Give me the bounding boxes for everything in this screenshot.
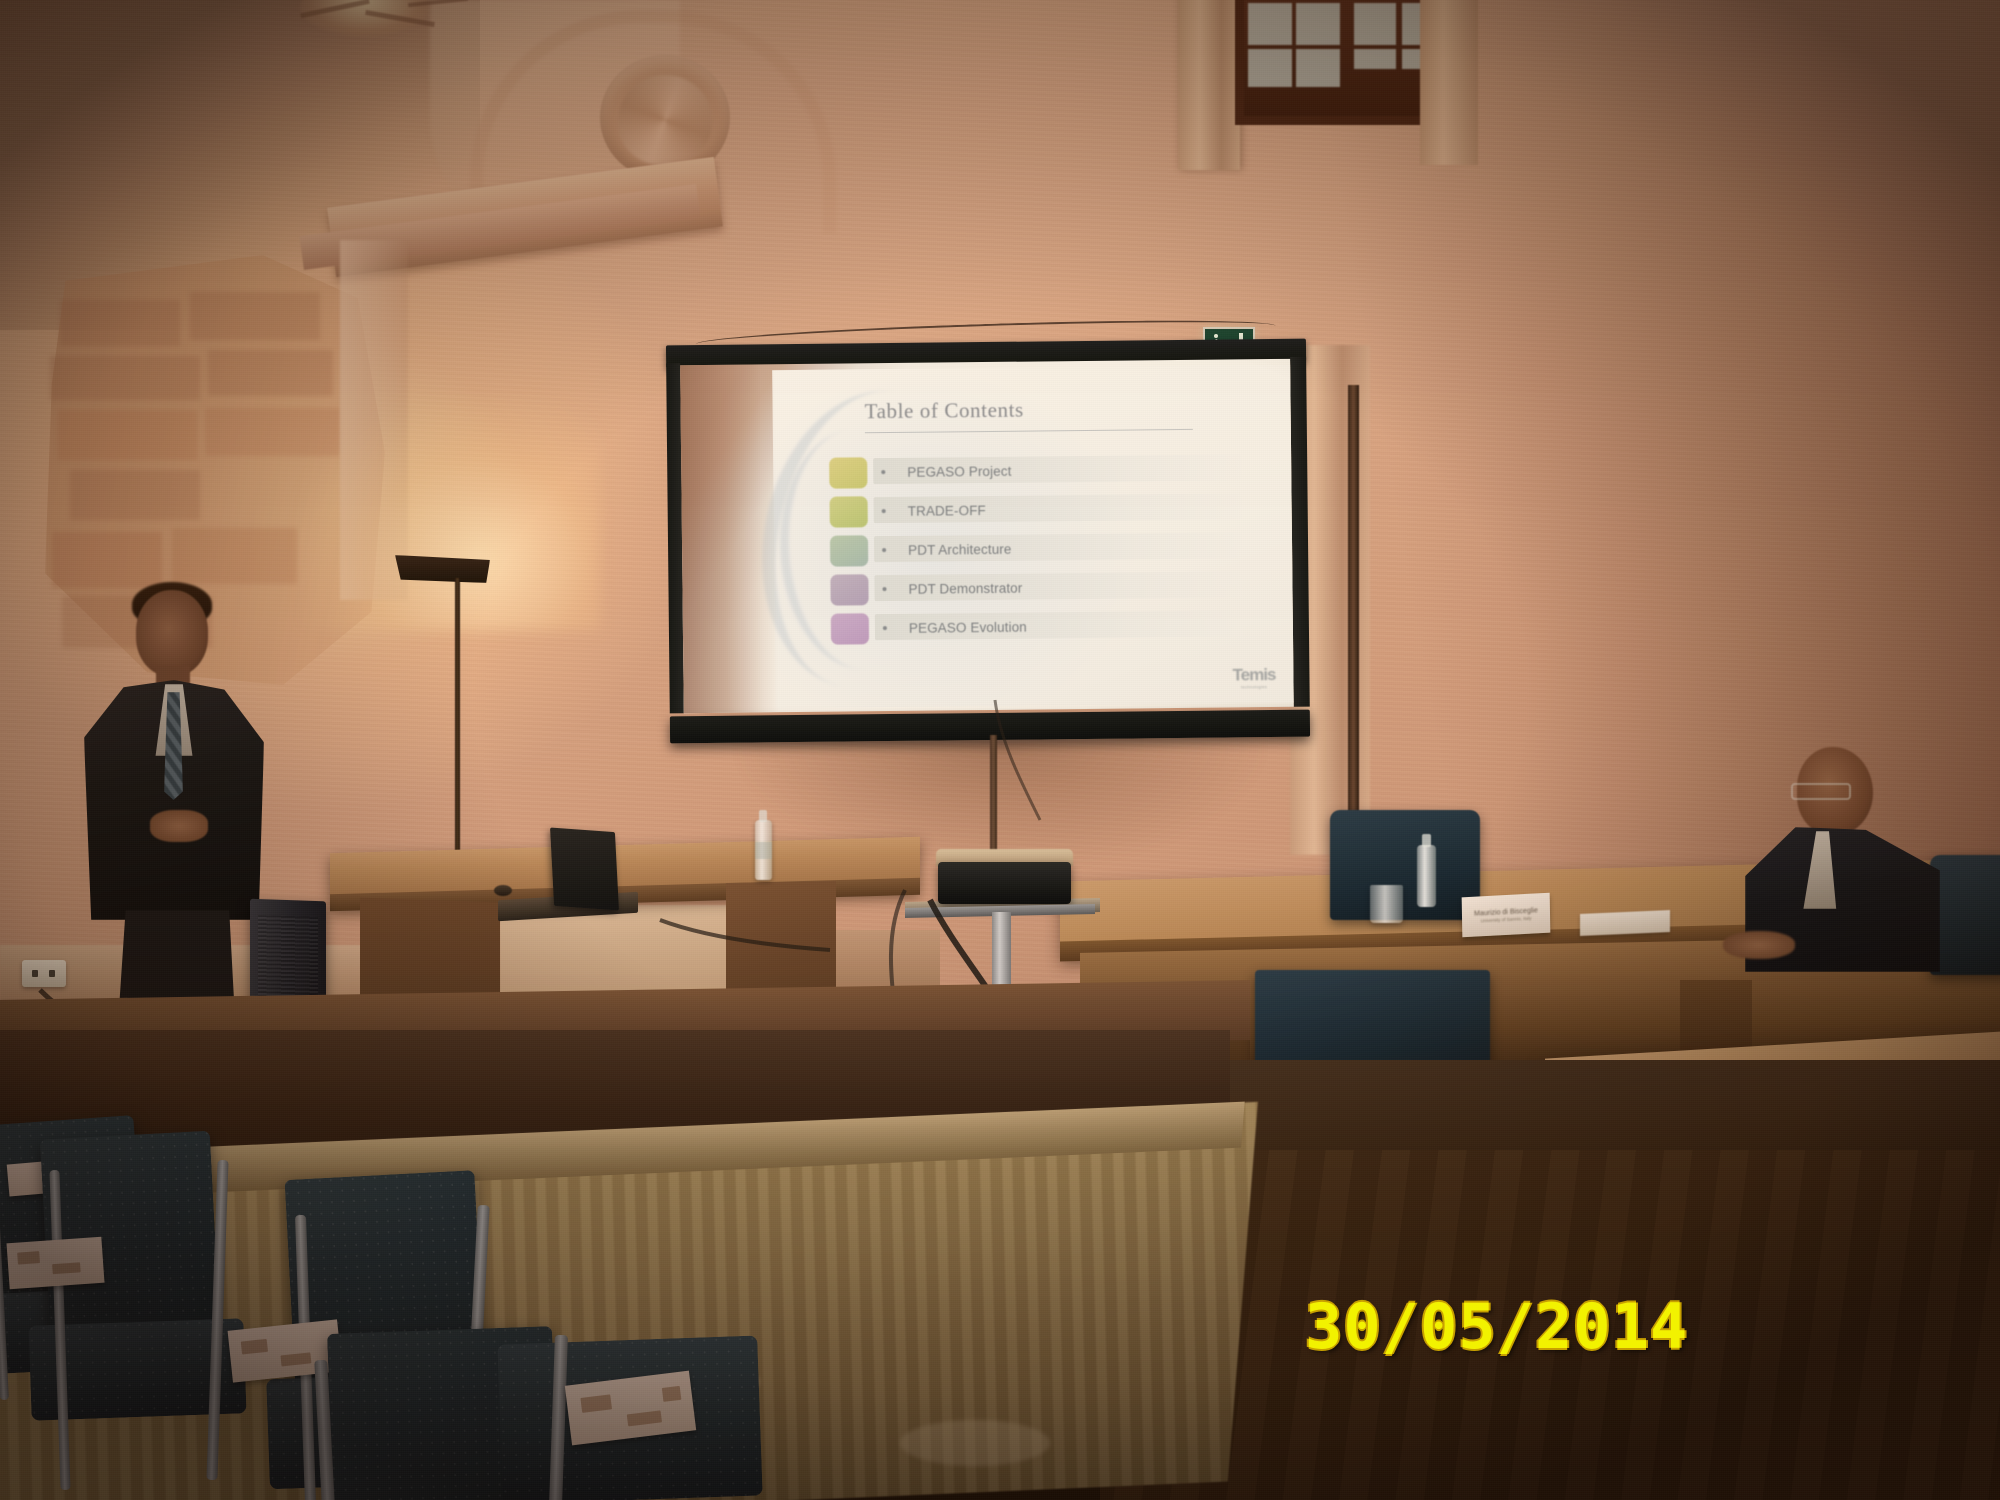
toc-color-chip	[831, 613, 869, 644]
toc-color-chip	[830, 535, 868, 566]
toc-item-label: TRADE-OFF	[908, 503, 986, 519]
slide-logo-subtext: technologies	[1233, 684, 1276, 689]
projected-slide: Table of Contents PEGASO Project TRADE-O…	[772, 365, 1294, 708]
flyer-image	[52, 1262, 81, 1274]
window-pane	[1248, 3, 1292, 45]
nameplate: Maurizio di Bisceglie University of Sann…	[1462, 893, 1551, 938]
papers-on-desk[interactable]	[1580, 910, 1670, 936]
flyer-image	[662, 1386, 682, 1402]
bullet-icon	[882, 548, 886, 552]
slide-logo-text: Temis	[1232, 665, 1275, 684]
bullet-icon	[882, 587, 886, 591]
brick	[190, 292, 320, 340]
presenter-head	[136, 590, 208, 676]
flyer[interactable]	[7, 1237, 105, 1290]
glasses-icon	[1791, 783, 1851, 800]
projector-body[interactable]	[938, 862, 1071, 904]
toc-color-chip	[829, 457, 867, 488]
water-bottle[interactable]	[1417, 845, 1436, 907]
screen-unlit-margin	[680, 364, 779, 713]
flyer-image	[627, 1410, 662, 1426]
wall-socket[interactable]	[22, 960, 66, 987]
screen-canvas: Table of Contents PEGASO Project TRADE-O…	[680, 359, 1294, 713]
window-curtain-right	[1420, 0, 1478, 165]
laptop-screen[interactable]	[550, 828, 619, 911]
toc-item-label: PEGASO Project	[907, 463, 1011, 479]
panelist-hands	[1723, 931, 1795, 959]
window-pane	[1354, 3, 1396, 45]
list-item: PDT Architecture	[830, 529, 1250, 567]
mouse[interactable]	[494, 885, 512, 896]
drinking-glass[interactable]	[1370, 885, 1403, 923]
list-item: TRADE-OFF	[830, 490, 1250, 528]
window-curtain-left	[1178, 0, 1240, 170]
flyer-image	[241, 1339, 268, 1355]
list-item: PDT Demonstrator	[830, 568, 1250, 606]
brick	[58, 410, 198, 460]
table-of-contents-list: PEGASO Project TRADE-OFF PDT Architectur…	[829, 451, 1251, 650]
slide-title: Table of Contents	[865, 398, 1024, 425]
chair-back[interactable]	[40, 1131, 220, 1340]
presenter-hands	[150, 810, 208, 842]
photo-scene: Table of Contents PEGASO Project TRADE-O…	[0, 0, 2000, 1500]
brick	[60, 300, 180, 346]
brick	[50, 356, 200, 400]
screen-tripod-stand	[990, 735, 997, 855]
panelist-person	[1735, 735, 1995, 965]
toc-item-label: PEGASO Evolution	[909, 619, 1027, 635]
floor-lamp-pole	[455, 578, 460, 873]
toc-item-label: PDT Demonstrator	[908, 580, 1022, 596]
brick	[70, 470, 200, 520]
bullet-icon	[881, 470, 885, 474]
window-pane	[1248, 49, 1292, 87]
flyer-image	[580, 1394, 612, 1413]
projection-screen: Table of Contents PEGASO Project TRADE-O…	[666, 337, 1310, 744]
flyer-image	[280, 1352, 311, 1366]
toc-color-chip	[830, 574, 868, 605]
list-item: PEGASO Project	[829, 451, 1249, 489]
toc-color-chip	[830, 496, 868, 527]
panel-chair[interactable]	[1330, 810, 1480, 920]
carpet-motif	[900, 1420, 1050, 1466]
lamp-glow	[300, 400, 600, 630]
flyer-image	[17, 1251, 40, 1265]
bullet-icon	[883, 626, 887, 630]
window-pane	[1354, 49, 1396, 69]
list-item: PEGASO Evolution	[831, 607, 1251, 645]
brick	[208, 350, 333, 396]
brick	[172, 528, 297, 584]
window-pane	[1296, 3, 1340, 45]
toc-item-label: PDT Architecture	[908, 541, 1012, 557]
bullet-icon	[882, 509, 886, 513]
window-frame	[1235, 0, 1445, 125]
window-pane	[1296, 49, 1340, 87]
slide-logo: Temis technologies	[1232, 665, 1275, 689]
curtain-pole	[1348, 385, 1359, 855]
water-bottle[interactable]	[755, 820, 772, 880]
